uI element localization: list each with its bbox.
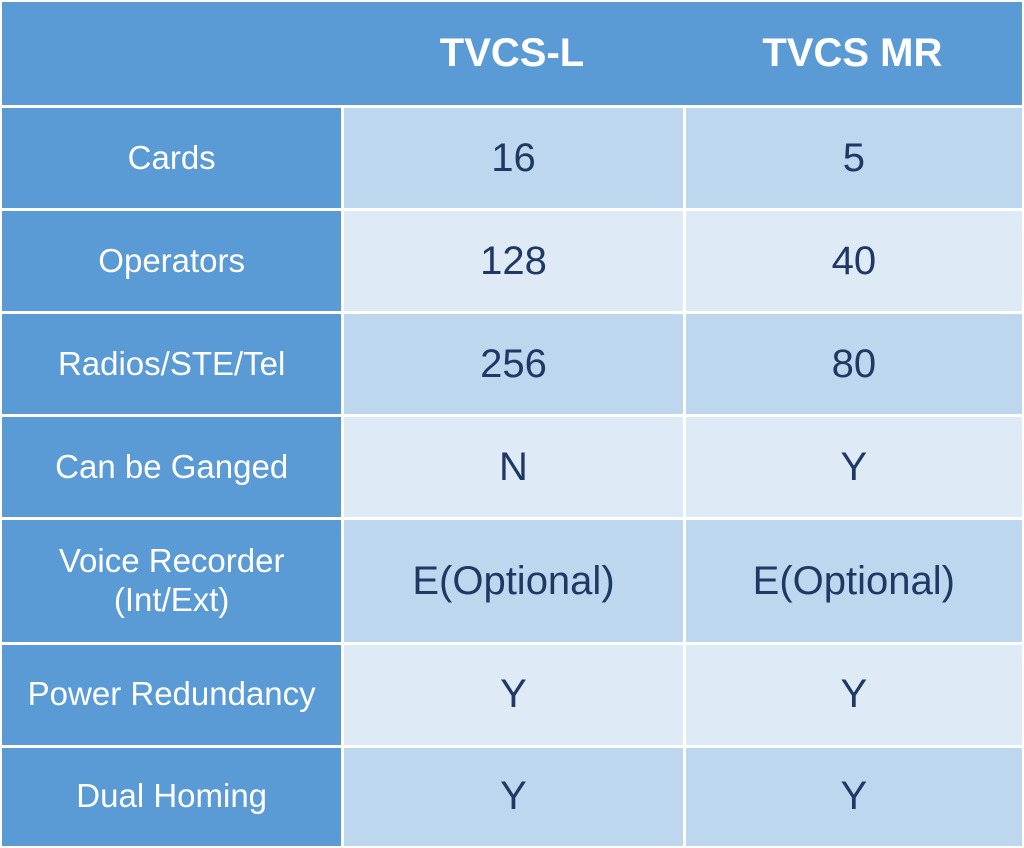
- feature-label-text: Radios/STE/Tel: [58, 345, 285, 382]
- table-row: Power Redundancy Y Y: [0, 642, 1024, 745]
- feature-label-text: Cards: [128, 139, 216, 176]
- value-cell-radios-tvcs-l: 256: [341, 311, 682, 414]
- table-row: Dual Homing Y Y: [0, 745, 1024, 848]
- table-header: TVCS-L TVCS MR: [0, 0, 1024, 105]
- table-row: Operators 128 40: [0, 208, 1024, 311]
- feature-label-power-redundancy: Power Redundancy: [0, 642, 341, 745]
- feature-label-text: Can be Ganged: [55, 448, 288, 485]
- header-cell-feature: [0, 0, 341, 105]
- feature-label-dual-homing: Dual Homing: [0, 745, 341, 848]
- header-cell-tvcs-l: TVCS-L: [341, 0, 682, 105]
- feature-label-text: Operators: [98, 242, 245, 279]
- value-cell-dual-homing-tvcs-l: Y: [341, 745, 682, 848]
- feature-label-operators: Operators: [0, 208, 341, 311]
- header-cell-tvcs-mr: TVCS MR: [683, 0, 1024, 105]
- value-cell-dual-homing-tvcs-mr: Y: [683, 745, 1024, 848]
- value-cell-power-redundancy-tvcs-l: Y: [341, 642, 682, 745]
- comparison-table: TVCS-L TVCS MR Cards 16 5 Operators 128 …: [0, 0, 1024, 848]
- value-cell-voice-recorder-tvcs-l: E(Optional): [341, 517, 682, 642]
- table-row: Voice Recorder (Int/Ext) E(Optional) E(O…: [0, 517, 1024, 642]
- feature-label-voice-recorder: Voice Recorder (Int/Ext): [0, 517, 341, 642]
- table-row: Can be Ganged N Y: [0, 414, 1024, 517]
- value-cell-radios-tvcs-mr: 80: [683, 311, 1024, 414]
- feature-label-radios-ste-tel: Radios/STE/Tel: [0, 311, 341, 414]
- value-cell-power-redundancy-tvcs-mr: Y: [683, 642, 1024, 745]
- value-cell-ganged-tvcs-mr: Y: [683, 414, 1024, 517]
- header-row: TVCS-L TVCS MR: [0, 0, 1024, 105]
- feature-label-text: Power Redundancy: [28, 675, 316, 712]
- feature-label-text: Dual Homing: [76, 777, 267, 814]
- feature-label-can-be-ganged: Can be Ganged: [0, 414, 341, 517]
- value-cell-ganged-tvcs-l: N: [341, 414, 682, 517]
- table-body: Cards 16 5 Operators 128 40 Radios/STE/T…: [0, 105, 1024, 848]
- value-cell-operators-tvcs-l: 128: [341, 208, 682, 311]
- table-row: Cards 16 5: [0, 105, 1024, 208]
- value-cell-operators-tvcs-mr: 40: [683, 208, 1024, 311]
- feature-label-text: Voice Recorder: [59, 542, 285, 579]
- table-row: Radios/STE/Tel 256 80: [0, 311, 1024, 414]
- value-cell-voice-recorder-tvcs-mr: E(Optional): [683, 517, 1024, 642]
- value-cell-cards-tvcs-mr: 5: [683, 105, 1024, 208]
- feature-label-cards: Cards: [0, 105, 341, 208]
- feature-label-text-line2: (Int/Ext): [8, 581, 335, 620]
- value-cell-cards-tvcs-l: 16: [341, 105, 682, 208]
